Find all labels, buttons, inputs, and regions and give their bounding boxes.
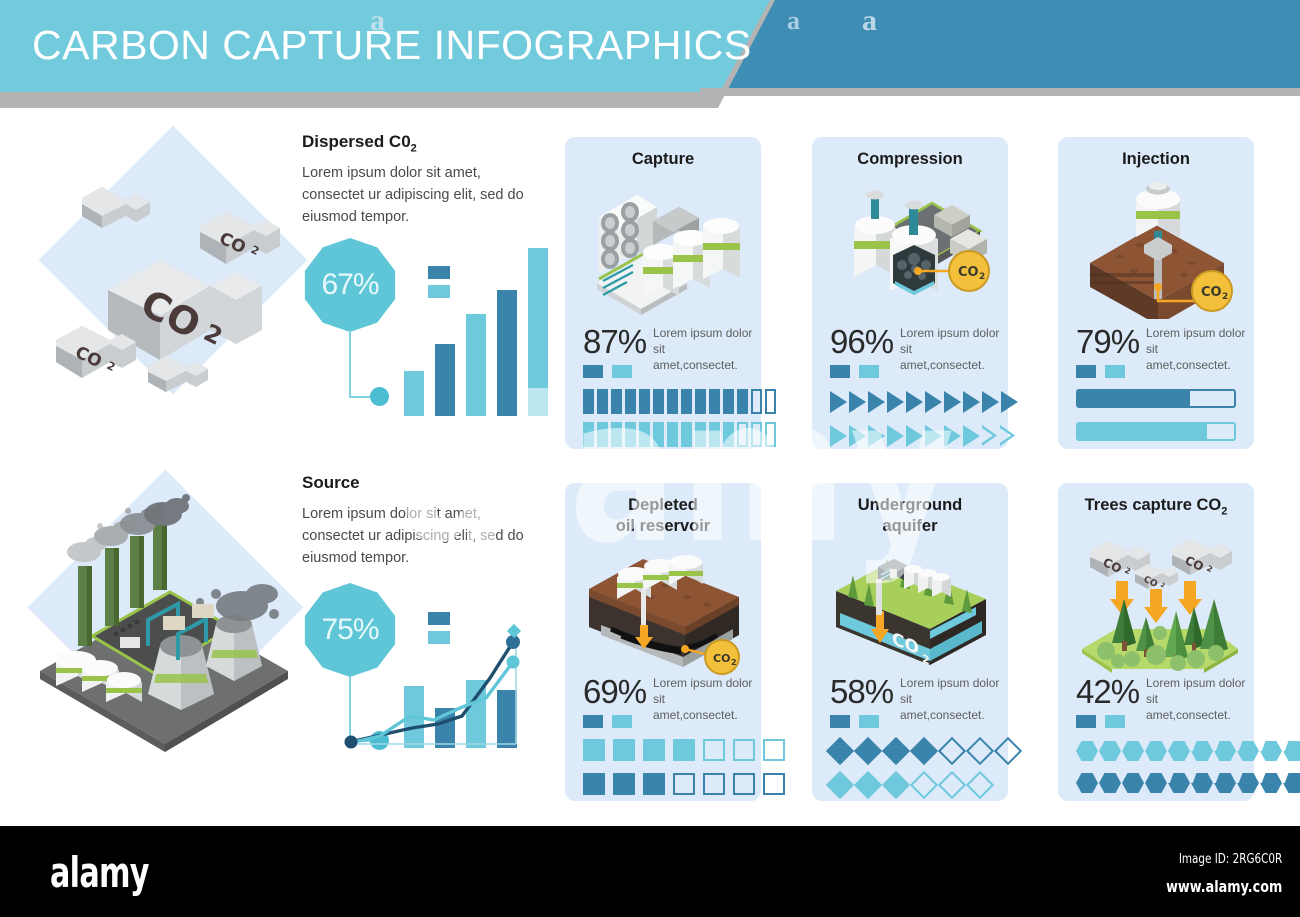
- marker-triangle-filled: [868, 391, 885, 413]
- marker-hexagon-outlined: [1191, 741, 1213, 761]
- marker-triangle-filled: [849, 391, 866, 413]
- card-underground-aquifer[interactable]: Underground aquifer CO 2: [812, 483, 1008, 801]
- marker-diamond-filled: [826, 737, 854, 765]
- marker-filled: [611, 389, 622, 414]
- marker-diamond-outlined: [966, 737, 994, 765]
- card-swatches-aquifer: [830, 715, 879, 728]
- marker-diamond-outlined: [994, 737, 1022, 765]
- marker-diamond-filled: [854, 771, 882, 799]
- marker-filled: [667, 389, 678, 414]
- card-percent-capture: 87%: [583, 323, 646, 361]
- footer-url[interactable]: www.alamy.com: [1166, 877, 1282, 896]
- bar-chart-dispersed: [404, 248, 548, 416]
- aquifer-icon: CO 2: [826, 549, 996, 675]
- card-title-trees: Trees capture CO2: [1058, 495, 1254, 518]
- panel-title-dispersed: Dispersed C02: [302, 132, 417, 154]
- swatch-dark: [830, 715, 850, 728]
- marker-row-light-capture: [583, 422, 779, 447]
- card-swatches-trees: [1076, 715, 1125, 728]
- marker-filled: [695, 389, 706, 414]
- marker-triangle-filled: [906, 391, 923, 413]
- marker-filled: [597, 422, 608, 447]
- marker-row-light-aquifer: [830, 775, 998, 795]
- marker-hexagon-filled: [1099, 773, 1121, 793]
- marker-triangle-filled: [830, 425, 847, 447]
- card-injection[interactable]: Injection CO: [1058, 137, 1254, 449]
- marker-triangle-filled: [906, 425, 923, 447]
- header-gray-underline: [700, 88, 1300, 96]
- marker-diamond-filled: [826, 771, 854, 799]
- swatch-dark: [1076, 715, 1096, 728]
- marker-row-light-depleted: [583, 739, 793, 761]
- marker-hexagon-filled: [1145, 741, 1167, 761]
- card-title-depleted-line2: oil reservoir: [565, 516, 761, 537]
- marker-row-dark-compression: [830, 391, 1020, 413]
- card-title-subscript: 2: [1221, 505, 1227, 517]
- swatch-dark: [583, 715, 603, 728]
- marker-filled: [583, 389, 594, 414]
- marker-square-filled: [583, 739, 605, 761]
- badge-value: 67%: [321, 268, 378, 302]
- swatch-dark: [1076, 365, 1096, 378]
- card-swatches-capture: [583, 365, 632, 378]
- svg-text:2: 2: [979, 272, 985, 282]
- progress-bar-light: [1076, 422, 1236, 441]
- marker-triangle-filled: [1001, 391, 1018, 413]
- panel-body-dispersed: Lorem ipsum dolor sit amet, consectet ur…: [302, 163, 524, 228]
- badge-dispersed: 67%: [303, 238, 397, 332]
- marker-hexagon-outlined: [1214, 773, 1236, 793]
- marker-square-filled: [673, 739, 695, 761]
- svg-text:2: 2: [731, 658, 737, 667]
- footer-image-id: Image ID: 2RG6C0R: [1179, 852, 1282, 867]
- card-percent-compression: 96%: [830, 323, 893, 361]
- panel-dispersed-illustration: CO 2 CO 2 CO 2: [40, 130, 290, 430]
- page-header: CARBON CAPTURE INFOGRAPHICS a a a: [0, 0, 1300, 108]
- marker-hexagon-outlined: [1214, 741, 1236, 761]
- card-percent-aquifer: 58%: [830, 673, 893, 711]
- marker-row-light-trees: [1076, 741, 1300, 761]
- marker-filled: [625, 389, 636, 414]
- svg-text:CO: CO: [713, 652, 730, 665]
- marker-filled: [625, 422, 636, 447]
- trees-forest-icon: CO 2 CO 2 CO 2: [1072, 523, 1242, 673]
- marker-filled: [597, 389, 608, 414]
- marker-hexagon-filled: [1076, 773, 1098, 793]
- marker-filled: [709, 389, 720, 414]
- card-trees-capture-co2[interactable]: Trees capture CO2 CO 2 CO 2 CO 2: [1058, 483, 1254, 801]
- card-percent-trees: 42%: [1076, 673, 1139, 711]
- marker-square-filled: [613, 773, 635, 795]
- stem-vertical: [349, 330, 351, 398]
- marker-diamond-outlined: [938, 737, 966, 765]
- card-swatches-injection: [1076, 365, 1125, 378]
- marker-filled: [709, 422, 720, 447]
- marker-square-outlined: [703, 739, 725, 761]
- swatch-dark: [830, 365, 850, 378]
- marker-filled: [639, 422, 650, 447]
- alamy-logo: alamy: [50, 848, 149, 897]
- card-capture[interactable]: Capture: [565, 137, 761, 449]
- marker-triangle-filled: [830, 391, 847, 413]
- marker-filled: [611, 422, 622, 447]
- card-desc-trees: Lorem ipsum dolor sit amet,consectet.: [1146, 675, 1246, 724]
- marker-row-dark-depleted: [583, 773, 793, 795]
- marker-square-filled: [613, 739, 635, 761]
- page-title: CARBON CAPTURE INFOGRAPHICS: [32, 22, 752, 69]
- marker-diamond-filled: [910, 737, 938, 765]
- marker-filled: [681, 389, 692, 414]
- marker-diamond-outlined: [966, 771, 994, 799]
- marker-filled: [723, 422, 734, 447]
- marker-hexagon-outlined: [1283, 741, 1300, 761]
- card-title-aquifer-line2: aquifer: [812, 516, 1008, 537]
- marker-hexagon-outlined: [1260, 773, 1282, 793]
- card-swatches-depleted: [583, 715, 632, 728]
- marker-triangle-filled: [887, 425, 904, 447]
- marker-triangle-filled: [963, 425, 980, 447]
- bar-2: [435, 344, 455, 416]
- panel-title-subscript: 2: [411, 142, 417, 154]
- progress-fill: [1078, 424, 1207, 439]
- card-desc-compression: Lorem ipsum dolor sit amet,consectet.: [900, 325, 1000, 374]
- svg-text:CO: CO: [958, 265, 979, 280]
- marker-hexagon-outlined: [1168, 773, 1190, 793]
- injection-wellhead-icon: CO 2: [1074, 179, 1242, 319]
- card-title-compression: Compression: [812, 149, 1008, 170]
- swatch-light: [1105, 715, 1125, 728]
- marker-outlined: [751, 389, 762, 414]
- marker-filled: [681, 422, 692, 447]
- card-compression[interactable]: Compression: [812, 137, 1008, 449]
- marker-hexagon-filled: [1122, 741, 1144, 761]
- marker-hexagon-outlined: [1191, 773, 1213, 793]
- bar-3: [466, 314, 486, 416]
- marker-hexagon-outlined: [1237, 741, 1259, 761]
- marker-triangle-filled: [982, 391, 999, 413]
- marker-filled: [639, 389, 650, 414]
- marker-square-outlined: [673, 773, 695, 795]
- card-desc-injection: Lorem ipsum dolor sit amet,consectet.: [1146, 325, 1246, 374]
- page-footer: alamy Image ID: 2RG6C0R www.alamy.com: [0, 826, 1300, 917]
- marker-square-filled: [643, 739, 665, 761]
- marker-triangle-filled: [925, 391, 942, 413]
- marker-outlined: [765, 389, 776, 414]
- card-title-injection: Injection: [1058, 149, 1254, 170]
- capture-plant-icon: [583, 179, 745, 319]
- swatch-light: [612, 715, 632, 728]
- marker-outlined: [765, 422, 776, 447]
- marker-row-dark-trees: [1076, 773, 1300, 793]
- card-title-capture: Capture: [565, 149, 761, 170]
- swatch-light: [612, 365, 632, 378]
- marker-hexagon-outlined: [1283, 773, 1300, 793]
- card-desc-capture: Lorem ipsum dolor sit amet,consectet.: [653, 325, 753, 374]
- oil-reservoir-icon: CO 2: [581, 549, 749, 675]
- card-depleted-oil-reservoir[interactable]: Depleted oil reservoir: [565, 483, 761, 801]
- marker-filled: [653, 422, 664, 447]
- marker-diamond-filled: [882, 771, 910, 799]
- marker-outlined: [737, 422, 748, 447]
- marker-hexagon-outlined: [1260, 741, 1282, 761]
- stem-dot: [370, 387, 389, 406]
- marker-triangle-filled: [944, 425, 961, 447]
- marker-filled: [583, 422, 594, 447]
- marker-diamond-filled: [882, 737, 910, 765]
- marker-triangle-filled: [944, 391, 961, 413]
- factory-plant-icon: [20, 486, 305, 786]
- marker-triangle-filled: [849, 425, 866, 447]
- marker-square-outlined: [763, 739, 785, 761]
- marker-triangle-filled: [887, 391, 904, 413]
- swatch-light: [859, 715, 879, 728]
- marker-filled: [653, 389, 664, 414]
- progress-fill: [1078, 391, 1190, 406]
- marker-square-outlined: [733, 773, 755, 795]
- marker-square-filled: [643, 773, 665, 795]
- marker-filled: [695, 422, 706, 447]
- card-title-aquifer-line1: Underground: [812, 495, 1008, 516]
- svg-text:2: 2: [922, 651, 930, 668]
- swatch-dark: [583, 365, 603, 378]
- marker-hexagon-outlined: [1237, 773, 1259, 793]
- bar-5: [528, 248, 548, 416]
- marker-triangle-outlined: [1000, 425, 1015, 446]
- marker-filled: [737, 389, 748, 414]
- marker-square-outlined: [763, 773, 785, 795]
- marker-hexagon-filled: [1099, 741, 1121, 761]
- marker-filled: [723, 389, 734, 414]
- marker-outlined: [751, 422, 762, 447]
- marker-diamond-filled: [854, 737, 882, 765]
- card-percent-injection: 79%: [1076, 323, 1139, 361]
- marker-triangle-filled: [868, 425, 885, 447]
- card-desc-depleted: Lorem ipsum dolor sit amet,consectet.: [653, 675, 753, 724]
- marker-diamond-outlined: [938, 771, 966, 799]
- marker-filled: [667, 422, 678, 447]
- marker-triangle-filled: [963, 391, 980, 413]
- marker-square-outlined: [703, 773, 725, 795]
- card-swatches-compression: [830, 365, 879, 378]
- bar-4: [497, 290, 517, 416]
- marker-row-light-compression: [830, 425, 1018, 447]
- progress-bar-dark: [1076, 389, 1236, 408]
- marker-square-outlined: [733, 739, 755, 761]
- marker-hexagon-filled: [1122, 773, 1144, 793]
- panel-title-source: Source: [302, 473, 360, 493]
- svg-text:CO: CO: [1201, 285, 1222, 300]
- card-desc-aquifer: Lorem ipsum dolor sit amet,consectet.: [900, 675, 1000, 724]
- card-percent-depleted: 69%: [583, 673, 646, 711]
- compression-tank-icon: CO 2: [830, 179, 995, 319]
- bar-1: [404, 371, 424, 416]
- line-chart-source: [330, 612, 530, 752]
- panel-title-text: Dispersed C0: [302, 132, 411, 151]
- panel-source-illustration: [20, 486, 305, 786]
- marker-row-dark-aquifer: [830, 741, 1026, 761]
- swatch-light: [1105, 365, 1125, 378]
- marker-square-filled: [583, 773, 605, 795]
- marker-triangle-filled: [925, 425, 942, 447]
- card-title-text: Trees capture CO: [1085, 496, 1222, 514]
- marker-hexagon-filled: [1145, 773, 1167, 793]
- marker-triangle-outlined: [982, 425, 997, 446]
- co2-clouds-icon: CO 2 CO 2 CO 2: [40, 130, 290, 430]
- swatch-light: [859, 365, 879, 378]
- panel-body-source: Lorem ipsum dolor sit amet, consectet ur…: [302, 504, 524, 569]
- svg-text:2: 2: [1222, 292, 1228, 302]
- marker-hexagon-filled: [1168, 741, 1190, 761]
- card-title-depleted-line1: Depleted: [565, 495, 761, 516]
- marker-row-dark-capture: [583, 389, 779, 414]
- marker-diamond-outlined: [910, 771, 938, 799]
- marker-hexagon-filled: [1076, 741, 1098, 761]
